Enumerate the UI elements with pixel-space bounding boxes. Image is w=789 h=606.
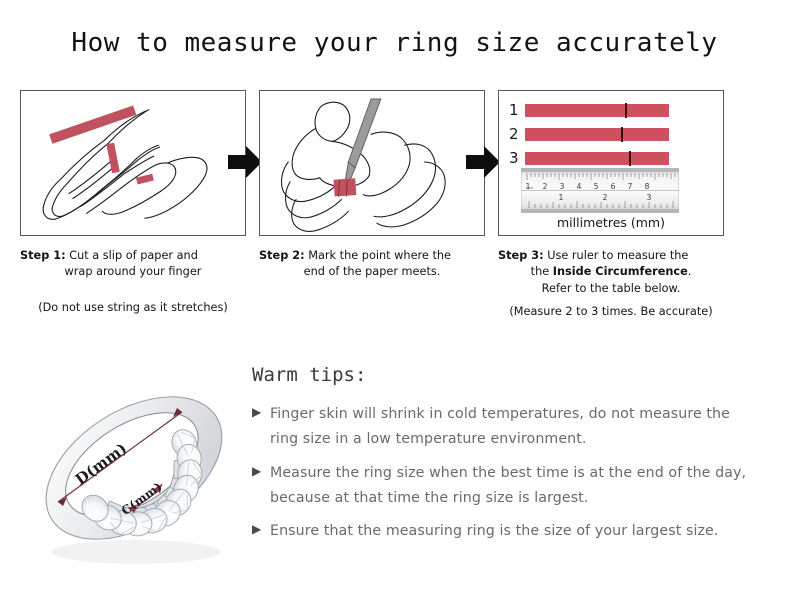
warm-tips-block: Warm tips: ▶ Finger skin will shrink in … bbox=[252, 364, 752, 553]
bottom-area: D(mm) C(mm) Warm tips: ▶ Finger skin wil… bbox=[0, 348, 789, 606]
paper-strip-1 bbox=[525, 104, 669, 117]
step-2-caption: Step 2: Mark the point where the end of … bbox=[259, 248, 485, 281]
tip-item: ▶ Ensure that the measuring ring is the … bbox=[252, 519, 752, 544]
step-3-column: 1 2 3 bbox=[498, 90, 724, 318]
step-2-panel bbox=[259, 90, 485, 236]
measured-strip-row-1: 1 bbox=[509, 101, 669, 119]
tip-text: Measure the ring size when the best time… bbox=[270, 461, 752, 511]
tip-item: ▶ Finger skin will shrink in cold temper… bbox=[252, 402, 752, 452]
step-1-line1: Cut a slip of paper and bbox=[69, 249, 198, 262]
svg-text:1: 1 bbox=[559, 193, 564, 202]
step-3-note: (Measure 2 to 3 times. Be accurate) bbox=[498, 305, 724, 318]
tip-text: Ensure that the measuring ring is the si… bbox=[270, 519, 752, 544]
step-2-line1: Mark the point where the bbox=[308, 249, 451, 262]
triangle-right-icon: ▶ bbox=[252, 519, 270, 540]
ruler-unit-label: millimetres (mm) bbox=[499, 215, 723, 230]
svg-text:7: 7 bbox=[628, 182, 633, 191]
strip-number-3: 3 bbox=[509, 149, 525, 167]
svg-text:3: 3 bbox=[560, 182, 565, 191]
step-3-panel: 1 2 3 bbox=[498, 90, 724, 236]
hand-marking-paper-illustration bbox=[260, 91, 484, 235]
step-2-label: Step 2: bbox=[259, 249, 305, 262]
svg-text:4: 4 bbox=[577, 182, 582, 191]
paper-strip-2 bbox=[525, 128, 669, 141]
strip-mark-3 bbox=[629, 151, 631, 166]
svg-text:5: 5 bbox=[594, 182, 599, 191]
strip-mark-2 bbox=[621, 127, 623, 142]
warm-tips-title: Warm tips: bbox=[252, 364, 752, 386]
ring-diagram: D(mm) C(mm) bbox=[22, 356, 247, 581]
step-3-line1: Use ruler to measure the bbox=[547, 249, 688, 262]
paper-strip-3 bbox=[525, 152, 669, 165]
ruler-graphic: 1 2 3 4 5 6 7 8 mm 1 2 3 bbox=[521, 168, 679, 213]
right-arrow-icon bbox=[228, 142, 262, 182]
strip-mark-1 bbox=[625, 103, 627, 118]
step-3-caption: Step 3: Use ruler to measure the the Ins… bbox=[498, 248, 724, 297]
triangle-right-icon: ▶ bbox=[252, 402, 270, 423]
measured-strip-row-3: 3 bbox=[509, 149, 669, 167]
step-1-label: Step 1: bbox=[20, 249, 66, 262]
svg-text:6: 6 bbox=[611, 182, 616, 191]
step-2-column: Step 2: Mark the point where the end of … bbox=[259, 90, 485, 281]
step-1-line2: wrap around your finger bbox=[20, 264, 246, 280]
step-3-label: Step 3: bbox=[498, 249, 544, 262]
svg-text:8: 8 bbox=[645, 182, 650, 191]
step-3-line3: Refer to the table below. bbox=[498, 281, 724, 297]
page-title: How to measure your ring size accurately bbox=[0, 28, 789, 58]
triangle-right-icon: ▶ bbox=[252, 461, 270, 482]
strip-number-1: 1 bbox=[509, 101, 525, 119]
tip-item: ▶ Measure the ring size when the best ti… bbox=[252, 461, 752, 511]
svg-text:2: 2 bbox=[603, 193, 608, 202]
measured-strip-row-2: 2 bbox=[509, 125, 669, 143]
step-3-line2-bold: Inside Circumference bbox=[553, 265, 688, 278]
step-1-caption: Step 1: Cut a slip of paper and wrap aro… bbox=[20, 248, 246, 281]
step-2-line2: end of the paper meets. bbox=[259, 264, 485, 280]
step-1-panel bbox=[20, 90, 246, 236]
svg-text:2: 2 bbox=[543, 182, 548, 191]
hand-with-paper-slip-illustration bbox=[21, 91, 245, 235]
right-arrow-icon-2 bbox=[466, 142, 500, 182]
step-1-column: Step 1: Cut a slip of paper and wrap aro… bbox=[20, 90, 246, 314]
step-1-note: (Do not use string as it stretches) bbox=[20, 301, 246, 314]
strip-number-2: 2 bbox=[509, 125, 525, 143]
steps-row: Step 1: Cut a slip of paper and wrap aro… bbox=[0, 90, 789, 340]
step-3-line2-post: . bbox=[688, 265, 692, 278]
svg-text:mm: mm bbox=[526, 186, 534, 190]
tip-text: Finger skin will shrink in cold temperat… bbox=[270, 402, 752, 452]
step-3-line2-pre: the bbox=[531, 265, 553, 278]
svg-text:3: 3 bbox=[647, 193, 652, 202]
